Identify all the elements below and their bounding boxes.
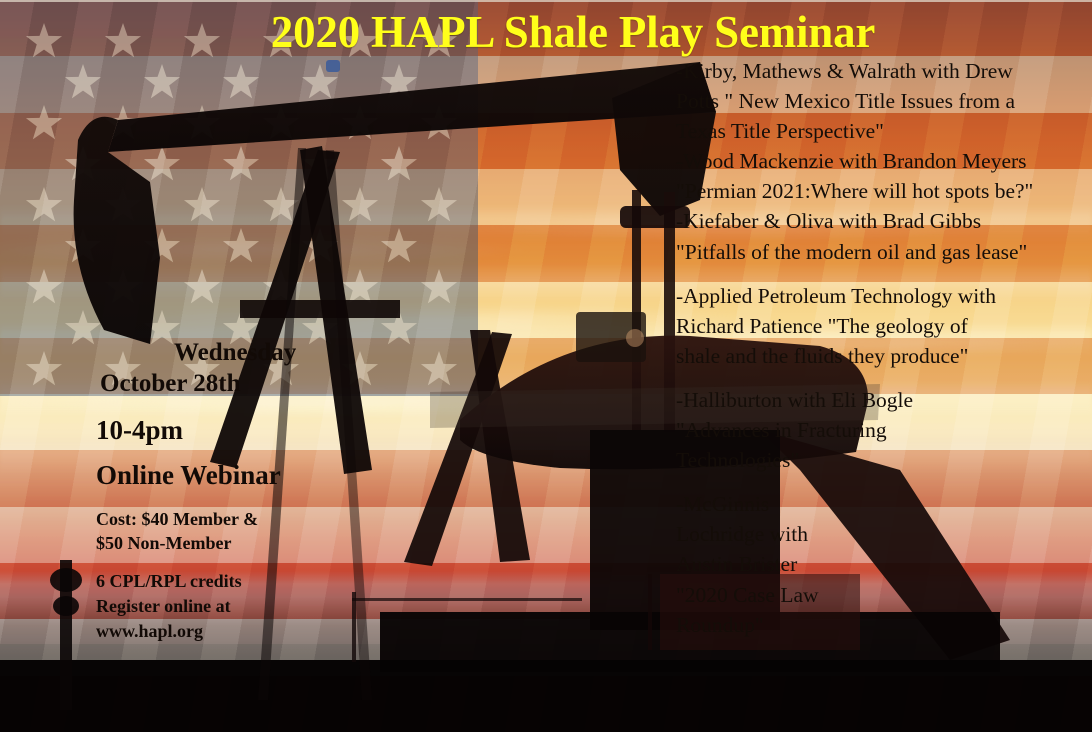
session-line: Texas Title Perspective" <box>676 116 1088 146</box>
top-edge-line <box>0 0 1092 2</box>
credits-line-1: 6 CPL/RPL credits <box>96 569 366 594</box>
session-line: shale and the fluids they produce" <box>676 341 1088 371</box>
session-line: Potts " New Mexico Title Issues from a <box>676 86 1088 116</box>
session-spacer <box>676 267 1088 281</box>
register-line: Register online at <box>96 594 366 619</box>
registration-url[interactable]: www.hapl.org <box>96 619 366 644</box>
session-line: "Permian 2021:Where will hot spots be?" <box>676 176 1088 206</box>
session-line: Lochridge with <box>676 519 1088 549</box>
session-line: Richard Patience "The geology of <box>676 311 1088 341</box>
session-line: Technologies" <box>676 445 1088 475</box>
event-date: October 28th <box>96 368 366 399</box>
session-line: -Wood Mackenzie with Brandon Meyers <box>676 146 1088 176</box>
session-line: Austin Brister <box>676 549 1088 579</box>
event-cost: Cost: $40 Member & $50 Non-Member <box>96 507 366 556</box>
session-line: Roundup" <box>676 610 1088 640</box>
event-day: Wednesday <box>96 340 366 366</box>
event-credits: 6 CPL/RPL credits Register online at www… <box>96 569 366 643</box>
session-line: -Kirby, Mathews & Walrath with Drew <box>676 56 1088 86</box>
session-line: -McGinnis <box>676 489 1088 519</box>
event-time: 10-4pm <box>96 416 366 446</box>
session-spacer <box>676 475 1088 489</box>
session-spacer <box>676 371 1088 385</box>
session-line: "Pitfalls of the modern oil and gas leas… <box>676 237 1088 267</box>
session-line: "Advances in Fracturing <box>676 415 1088 445</box>
event-format: Online Webinar <box>96 461 366 491</box>
page-title: 2020 HAPL Shale Play Seminar <box>0 6 1092 58</box>
poster-canvas: 2020 HAPL Shale Play Seminar -Kirby, Mat… <box>0 0 1092 732</box>
session-line: -Kiefaber & Oliva with Brad Gibbs <box>676 206 1088 236</box>
cost-line-1: Cost: $40 Member & <box>96 507 366 531</box>
session-list: -Kirby, Mathews & Walrath with DrewPotts… <box>676 56 1088 640</box>
session-line: -Halliburton with Eli Bogle <box>676 385 1088 415</box>
event-details: Wednesday October 28th 10-4pm Online Web… <box>96 340 366 644</box>
session-line: -Applied Petroleum Technology with <box>676 281 1088 311</box>
session-line: "2020 Case Law <box>676 580 1088 610</box>
cost-line-2: $50 Non-Member <box>96 531 366 555</box>
